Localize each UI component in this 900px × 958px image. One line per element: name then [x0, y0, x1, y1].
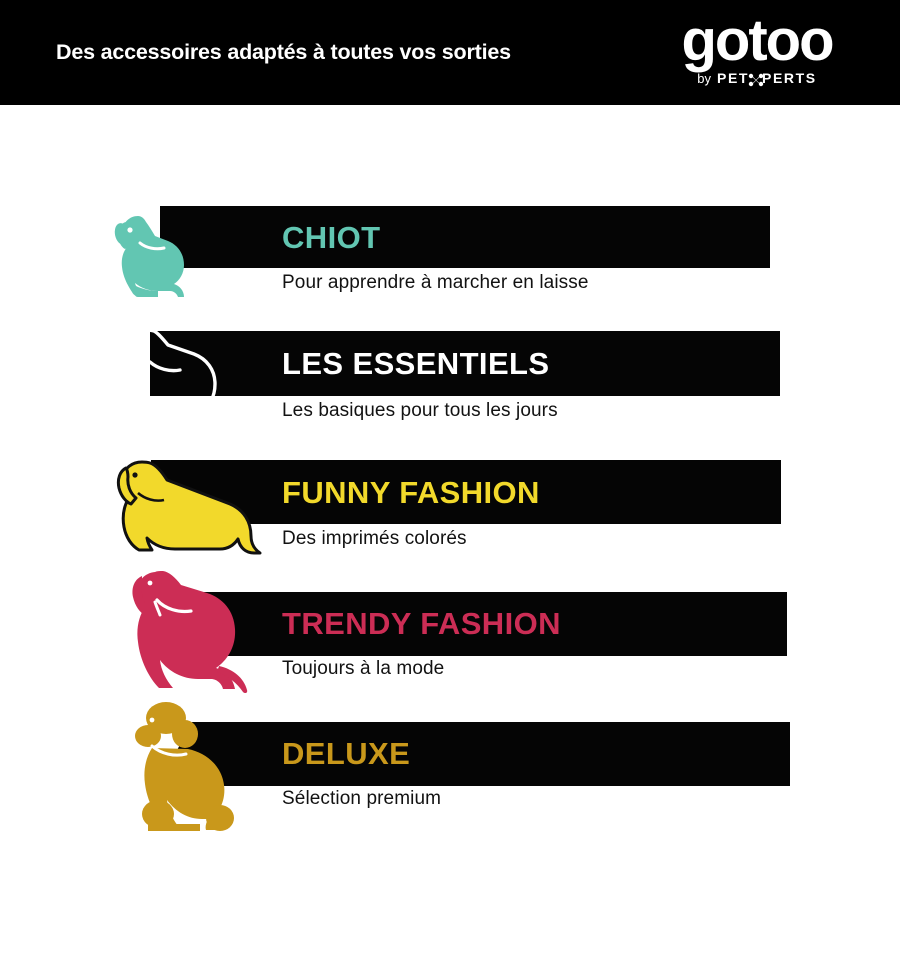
header-bar: Des accessoires adaptés à toutes vos sor… — [0, 0, 900, 105]
gotoo-logo: gotoo byPETPERTS — [662, 16, 852, 94]
logo-tagline: byPETPERTS — [662, 70, 852, 87]
page-title: Des accessoires adaptés à toutes vos sor… — [56, 0, 511, 105]
category-subtitle: Toujours à la mode — [282, 658, 444, 680]
category-row-trendy[interactable]: TRENDY FASHION Toujours à la mode — [0, 566, 900, 696]
labrador-sitting-outline-icon — [112, 318, 247, 436]
category-row-essentiels[interactable]: LES ESSENTIELS Les basiques pour tous le… — [0, 318, 900, 433]
category-subtitle: Pour apprendre à marcher en laisse — [282, 272, 589, 294]
category-row-chiot[interactable]: CHIOT Pour apprendre à marcher en laisse — [0, 200, 900, 305]
category-title: LES ESSENTIELS — [282, 346, 549, 382]
logo-brand-left: PET — [717, 70, 749, 86]
category-subtitle: Des imprimés colorés — [282, 528, 467, 550]
puppy-sitting-icon — [108, 202, 218, 302]
category-row-deluxe[interactable]: DELUXE Sélection premium — [0, 700, 900, 840]
category-row-funny[interactable]: FUNNY FASHION Des imprimés colorés — [0, 448, 900, 558]
category-subtitle: Sélection premium — [282, 788, 441, 810]
logo-by-label: by — [697, 71, 711, 86]
category-title: CHIOT — [282, 220, 380, 256]
category-title: TRENDY FASHION — [282, 606, 561, 642]
logo-wordmark: gotoo — [662, 12, 852, 70]
category-title: DELUXE — [282, 736, 410, 772]
category-bar — [160, 206, 770, 268]
great-dane-sitting-icon — [125, 566, 260, 696]
category-subtitle: Les basiques pour tous les jours — [282, 400, 558, 422]
poodle-sitting-icon — [128, 700, 268, 835]
category-title: FUNNY FASHION — [282, 475, 540, 511]
logo-brand-right: PERTS — [762, 70, 817, 86]
infographic-canvas: Des accessoires adaptés à toutes vos sor… — [0, 0, 900, 900]
heart-icon — [200, 906, 258, 958]
dachshund-icon — [112, 450, 272, 558]
